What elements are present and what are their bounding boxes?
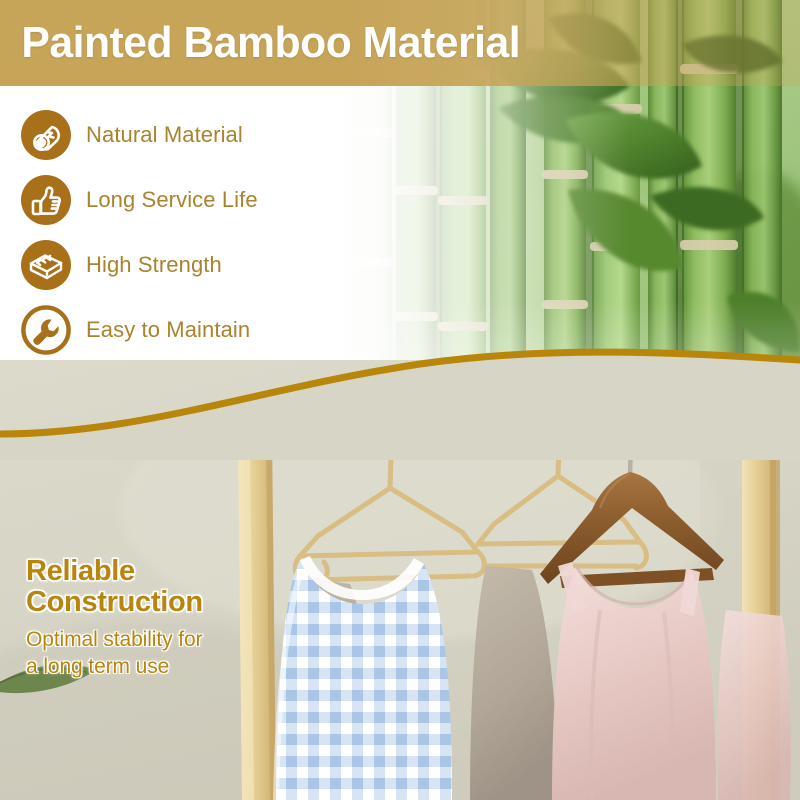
wrench-icon [20,304,72,356]
thumbs-up-icon [20,174,72,226]
feature-item-long-service-life: Long Service Life [20,167,350,232]
callout-subtext-line-1: Optimal stability for [26,627,286,654]
callout-headline-line-2: Construction [26,587,286,618]
callout-subtext: Optimal stability for a long term use [26,627,286,681]
callout-subtext-line-2: a long term use [26,654,286,681]
feature-label: Easy to Maintain [86,317,250,343]
callout-headline: Reliable Construction [26,556,286,618]
callout-block: Reliable Construction Optimal stability … [26,556,286,681]
callout-headline-line-1: Reliable [26,556,286,587]
log-icon [20,109,72,161]
product-infographic: Painted Bamboo Material [0,0,800,800]
feature-list: Natural Material Long Service Life [20,102,350,362]
feature-item-easy-to-maintain: Easy to Maintain [20,297,350,362]
feature-label: Long Service Life [86,187,258,213]
feature-item-high-strength: High Strength [20,232,350,297]
feature-label: High Strength [86,252,222,278]
feature-item-natural-material: Natural Material [20,102,350,167]
brick-icon [20,239,72,291]
feature-label: Natural Material [86,122,243,148]
page-title: Painted Bamboo Material [0,18,520,68]
title-banner: Painted Bamboo Material [0,0,800,86]
